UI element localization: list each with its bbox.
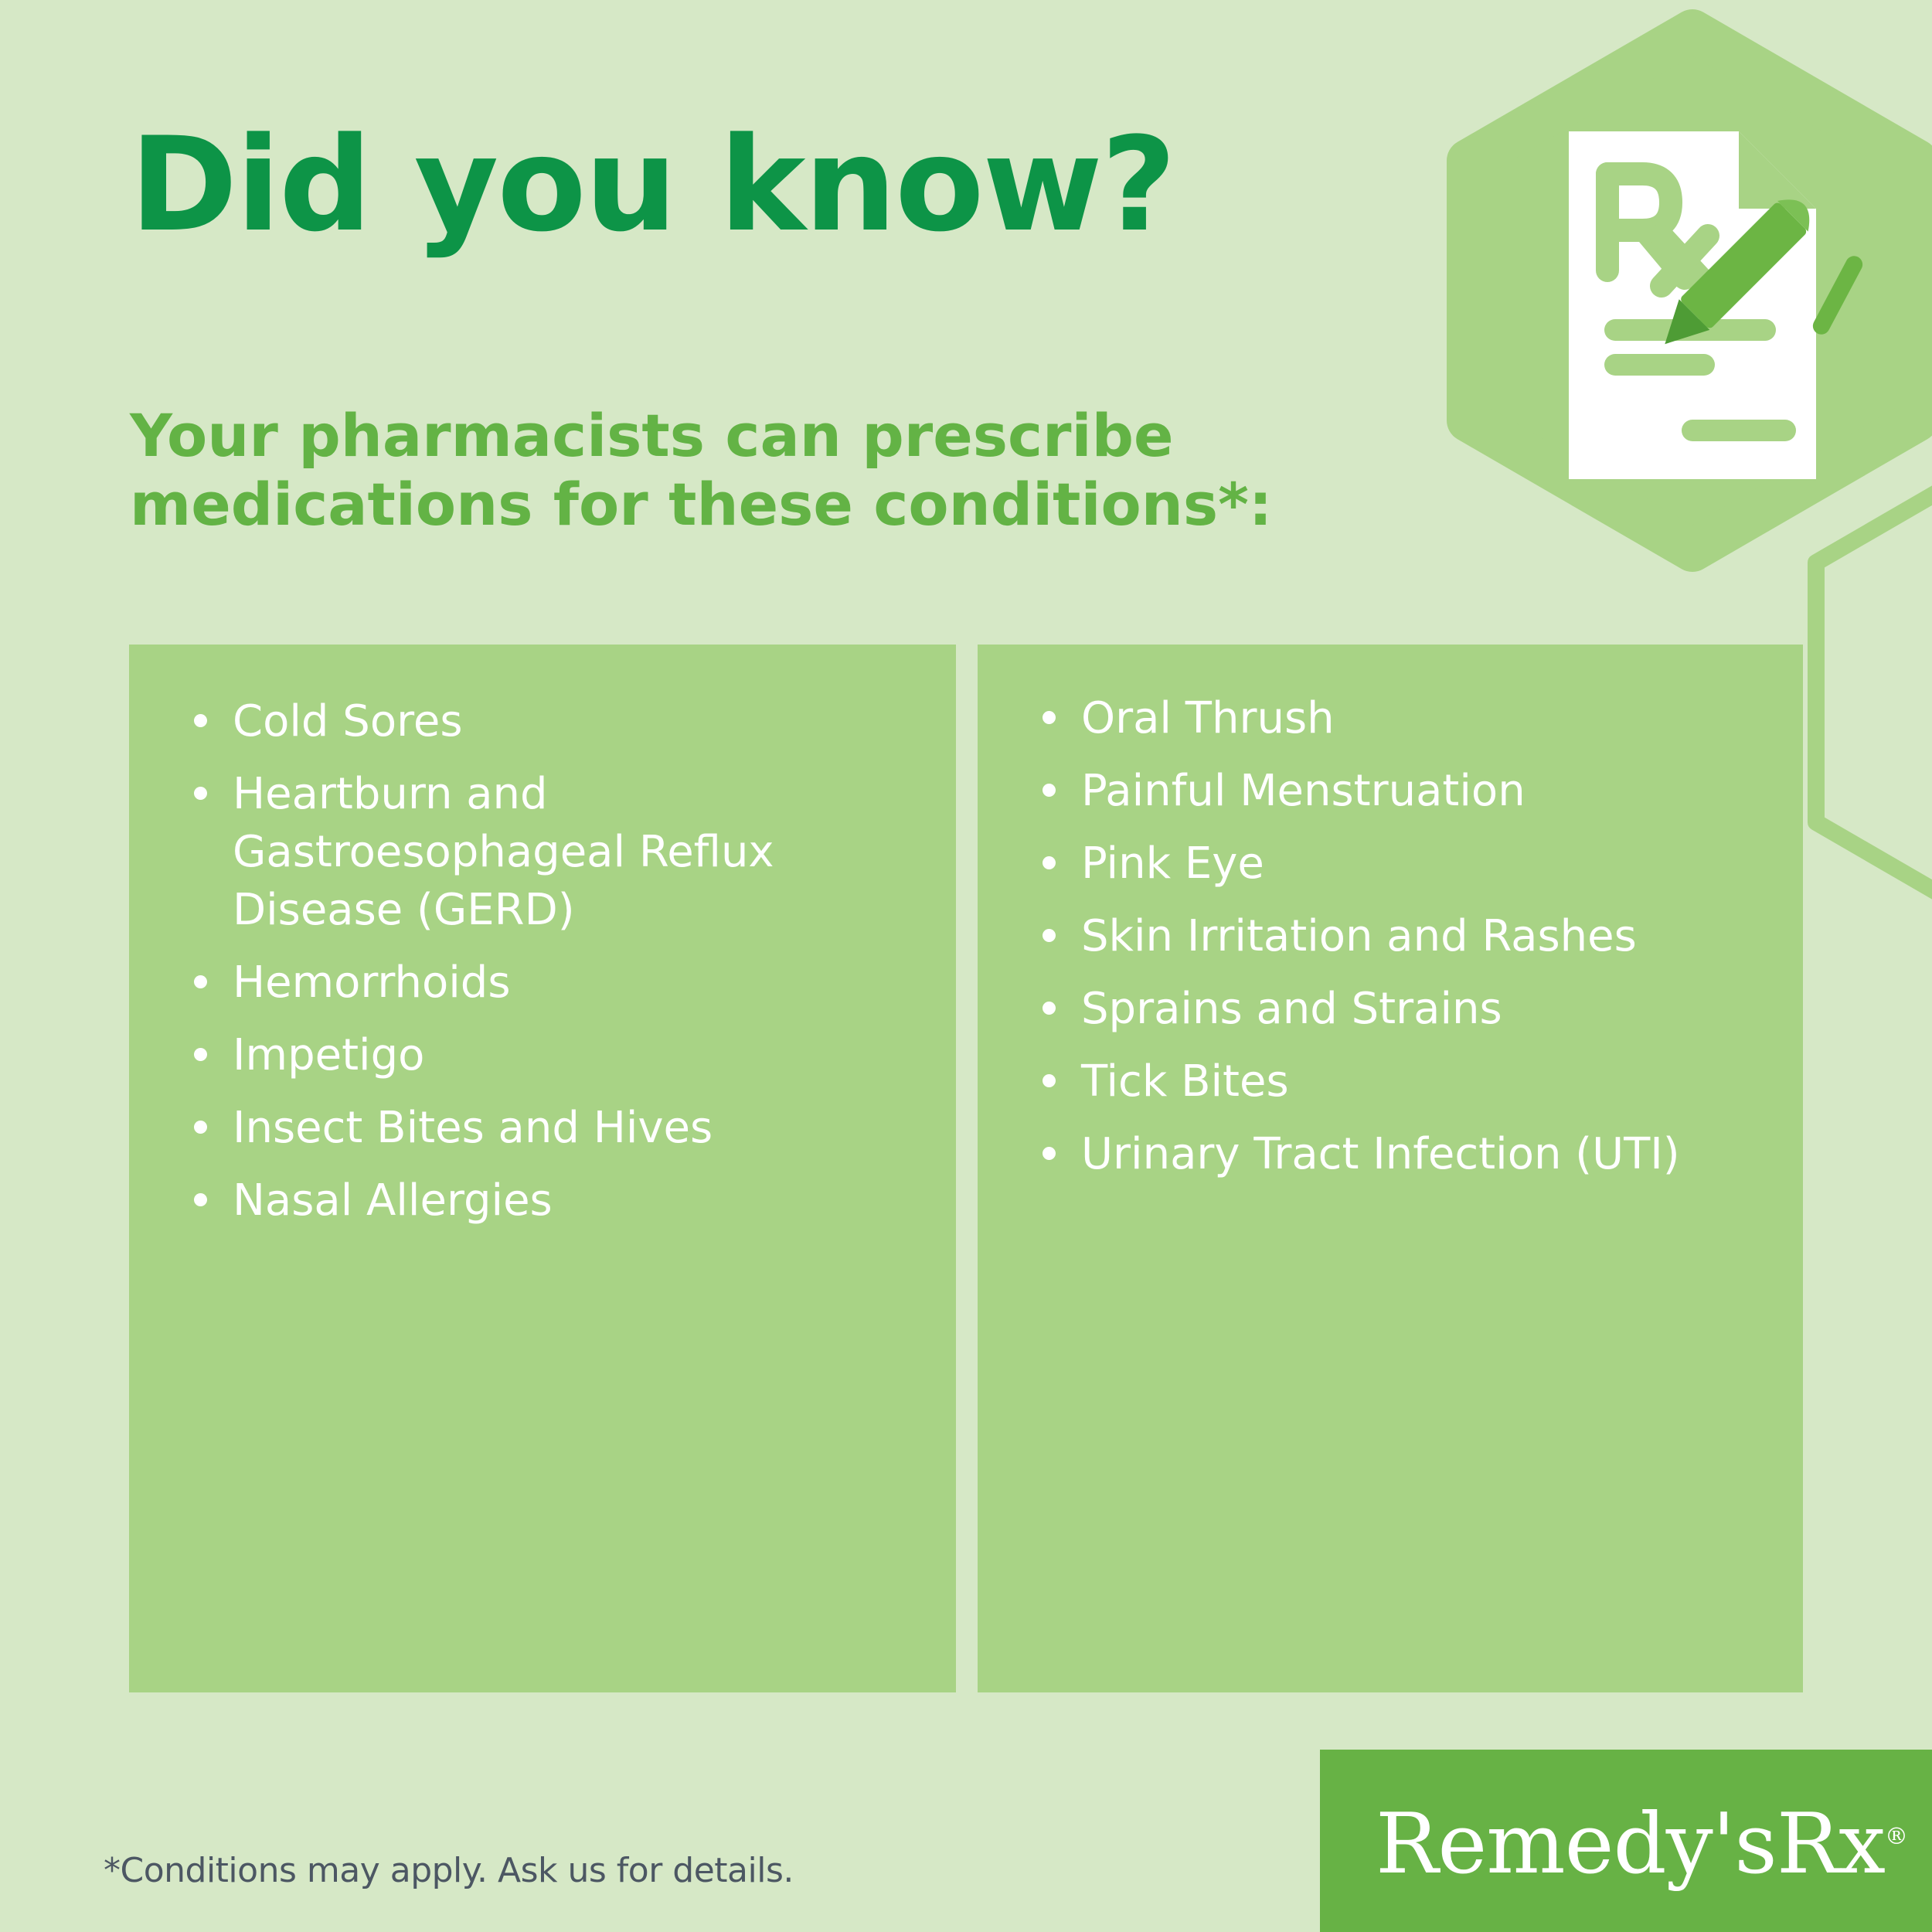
rx-prescription-document-icon [1453,23,1932,641]
bullet-dot-icon [194,714,207,727]
conditions-list-right: Oral ThrushPainful MenstruationPink EyeS… [978,645,1803,1183]
bullet-dot-icon [194,975,207,988]
bullet-dot-icon [1043,1002,1056,1015]
document-fold-corner [1739,131,1816,209]
condition-label: Hemorrhoids [233,957,511,1008]
bullet-dot-icon [1043,856,1056,869]
condition-list-item: Sprains and Strains [1033,980,1766,1038]
footnote-disclaimer: *Conditions may apply. Ask us for detail… [104,1851,794,1890]
document-text-line-2 [1604,354,1715,376]
condition-list-item: Impetigo [185,1026,919,1084]
condition-list-item: Skin Irritation and Rashes [1033,907,1766,965]
conditions-panel-left: Cold SoresHeartburn and Gastroesophageal… [129,645,956,1692]
condition-list-item: Nasal Allergies [185,1172,919,1230]
page-title: Did you know? [130,120,1175,250]
condition-list-item: Tick Bites [1033,1053,1766,1111]
page-subtitle: Your pharmacists can prescribe medicatio… [130,402,1289,539]
condition-label: Impetigo [233,1030,424,1080]
document-signature-line [1682,420,1796,441]
bullet-dot-icon [1043,711,1056,724]
condition-list-item: Insect Bites and Hives [185,1099,919,1157]
pencil-clip [1810,253,1866,337]
condition-list-item: Cold Sores [185,692,919,750]
condition-list-item: Hemorrhoids [185,954,919,1012]
conditions-list-left: Cold SoresHeartburn and Gastroesophageal… [129,645,956,1230]
condition-label: Insect Bites and Hives [233,1103,713,1153]
bullet-dot-icon [194,1193,207,1206]
subtitle-line-1: Your pharmacists can prescribe [130,402,1289,471]
condition-list-item: Oral Thrush [1033,689,1766,747]
bullet-dot-icon [1043,784,1056,797]
subtitle-line-2: medications for these conditions*: [130,471,1289,539]
bullet-dot-icon [194,787,207,800]
bullet-dot-icon [1043,1074,1056,1087]
condition-label: Cold Sores [233,696,463,747]
condition-list-item: Pink Eye [1033,835,1766,893]
condition-label: Heartburn and Gastroesophageal Reflux Di… [233,769,774,935]
bullet-dot-icon [194,1121,207,1134]
brand-logo-block: Remedy'sRx® [1320,1750,1932,1932]
condition-label: Urinary Tract Infection (UTI) [1081,1129,1680,1179]
brand-wordmark: Remedy'sRx® [1376,1796,1908,1893]
condition-list-item: Urinary Tract Infection (UTI) [1033,1125,1766,1183]
condition-label: Skin Irritation and Rashes [1081,911,1637,961]
bullet-dot-icon [1043,929,1056,942]
condition-list-item: Heartburn and Gastroesophageal Reflux Di… [185,765,919,939]
bullet-dot-icon [194,1048,207,1061]
condition-label: Painful Menstruation [1081,766,1526,816]
condition-label: Oral Thrush [1081,693,1335,743]
brand-name: Remedy'sRx [1376,1796,1885,1893]
poster-canvas: Did you know? Your pharmacists can presc… [0,0,1932,1932]
conditions-panel-right: Oral ThrushPainful MenstruationPink EyeS… [978,645,1803,1692]
bullet-dot-icon [1043,1147,1056,1160]
condition-label: Pink Eye [1081,838,1264,889]
condition-label: Nasal Allergies [233,1175,553,1226]
registered-trademark-icon: ® [1885,1823,1908,1850]
condition-label: Tick Bites [1081,1056,1289,1107]
condition-list-item: Painful Menstruation [1033,762,1766,820]
condition-label: Sprains and Strains [1081,984,1502,1034]
